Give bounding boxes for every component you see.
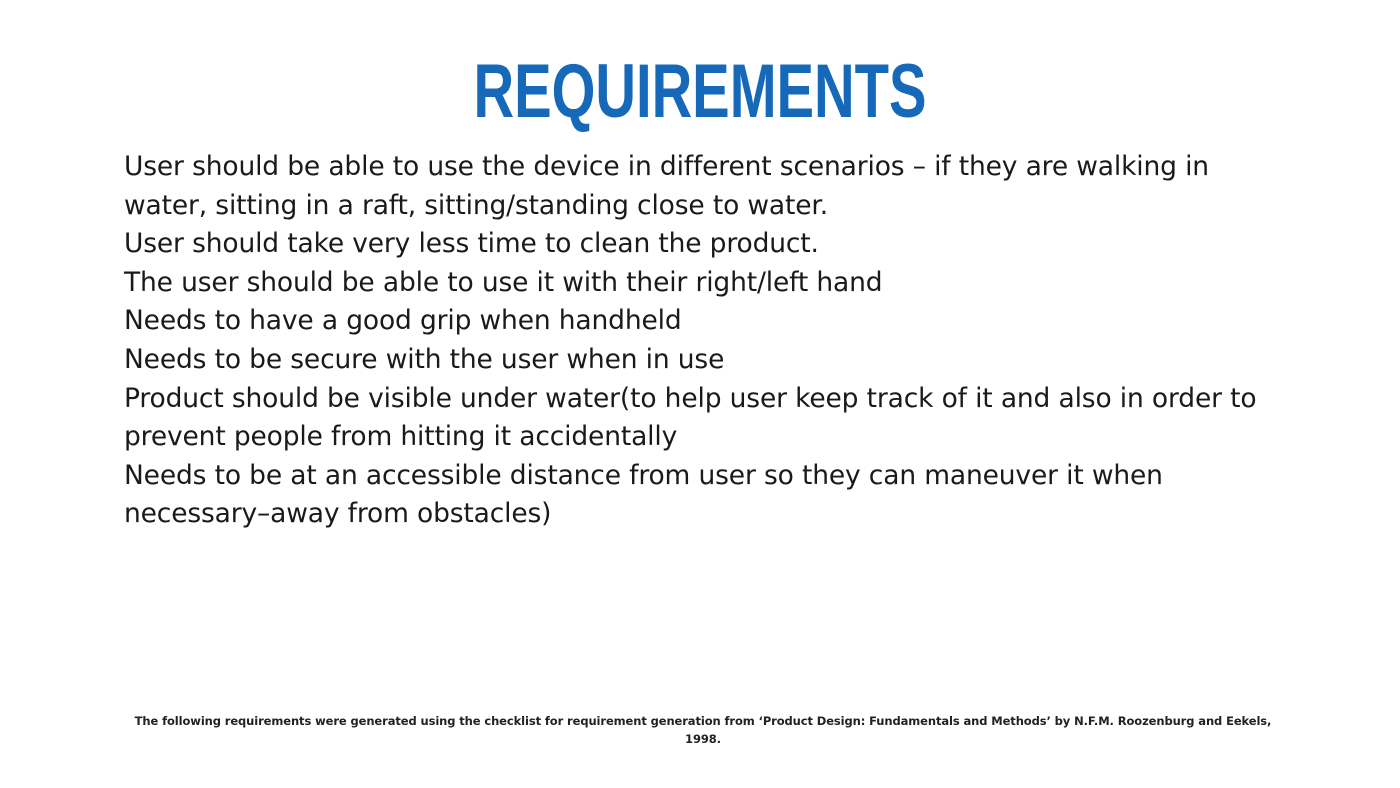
requirement-item: Needs to be secure with the user when in…	[124, 341, 1292, 380]
slide-canvas: REQUIREMENTS User should be able to use …	[0, 0, 1400, 788]
requirement-item: The user should be able to use it with t…	[124, 264, 1292, 303]
requirement-item: User should take very less time to clean…	[124, 225, 1292, 264]
requirement-item: Product should be visible under water(to…	[124, 380, 1292, 457]
page-title: REQUIREMENTS	[182, 52, 1218, 132]
requirement-item: Needs to be at an accessible distance fr…	[124, 457, 1292, 534]
requirement-item: User should be able to use the device in…	[124, 148, 1292, 225]
requirements-list: User should be able to use the device in…	[124, 148, 1292, 534]
requirement-item: Needs to have a good grip when handheld	[124, 302, 1292, 341]
source-footnote: The following requirements were generate…	[130, 712, 1276, 748]
